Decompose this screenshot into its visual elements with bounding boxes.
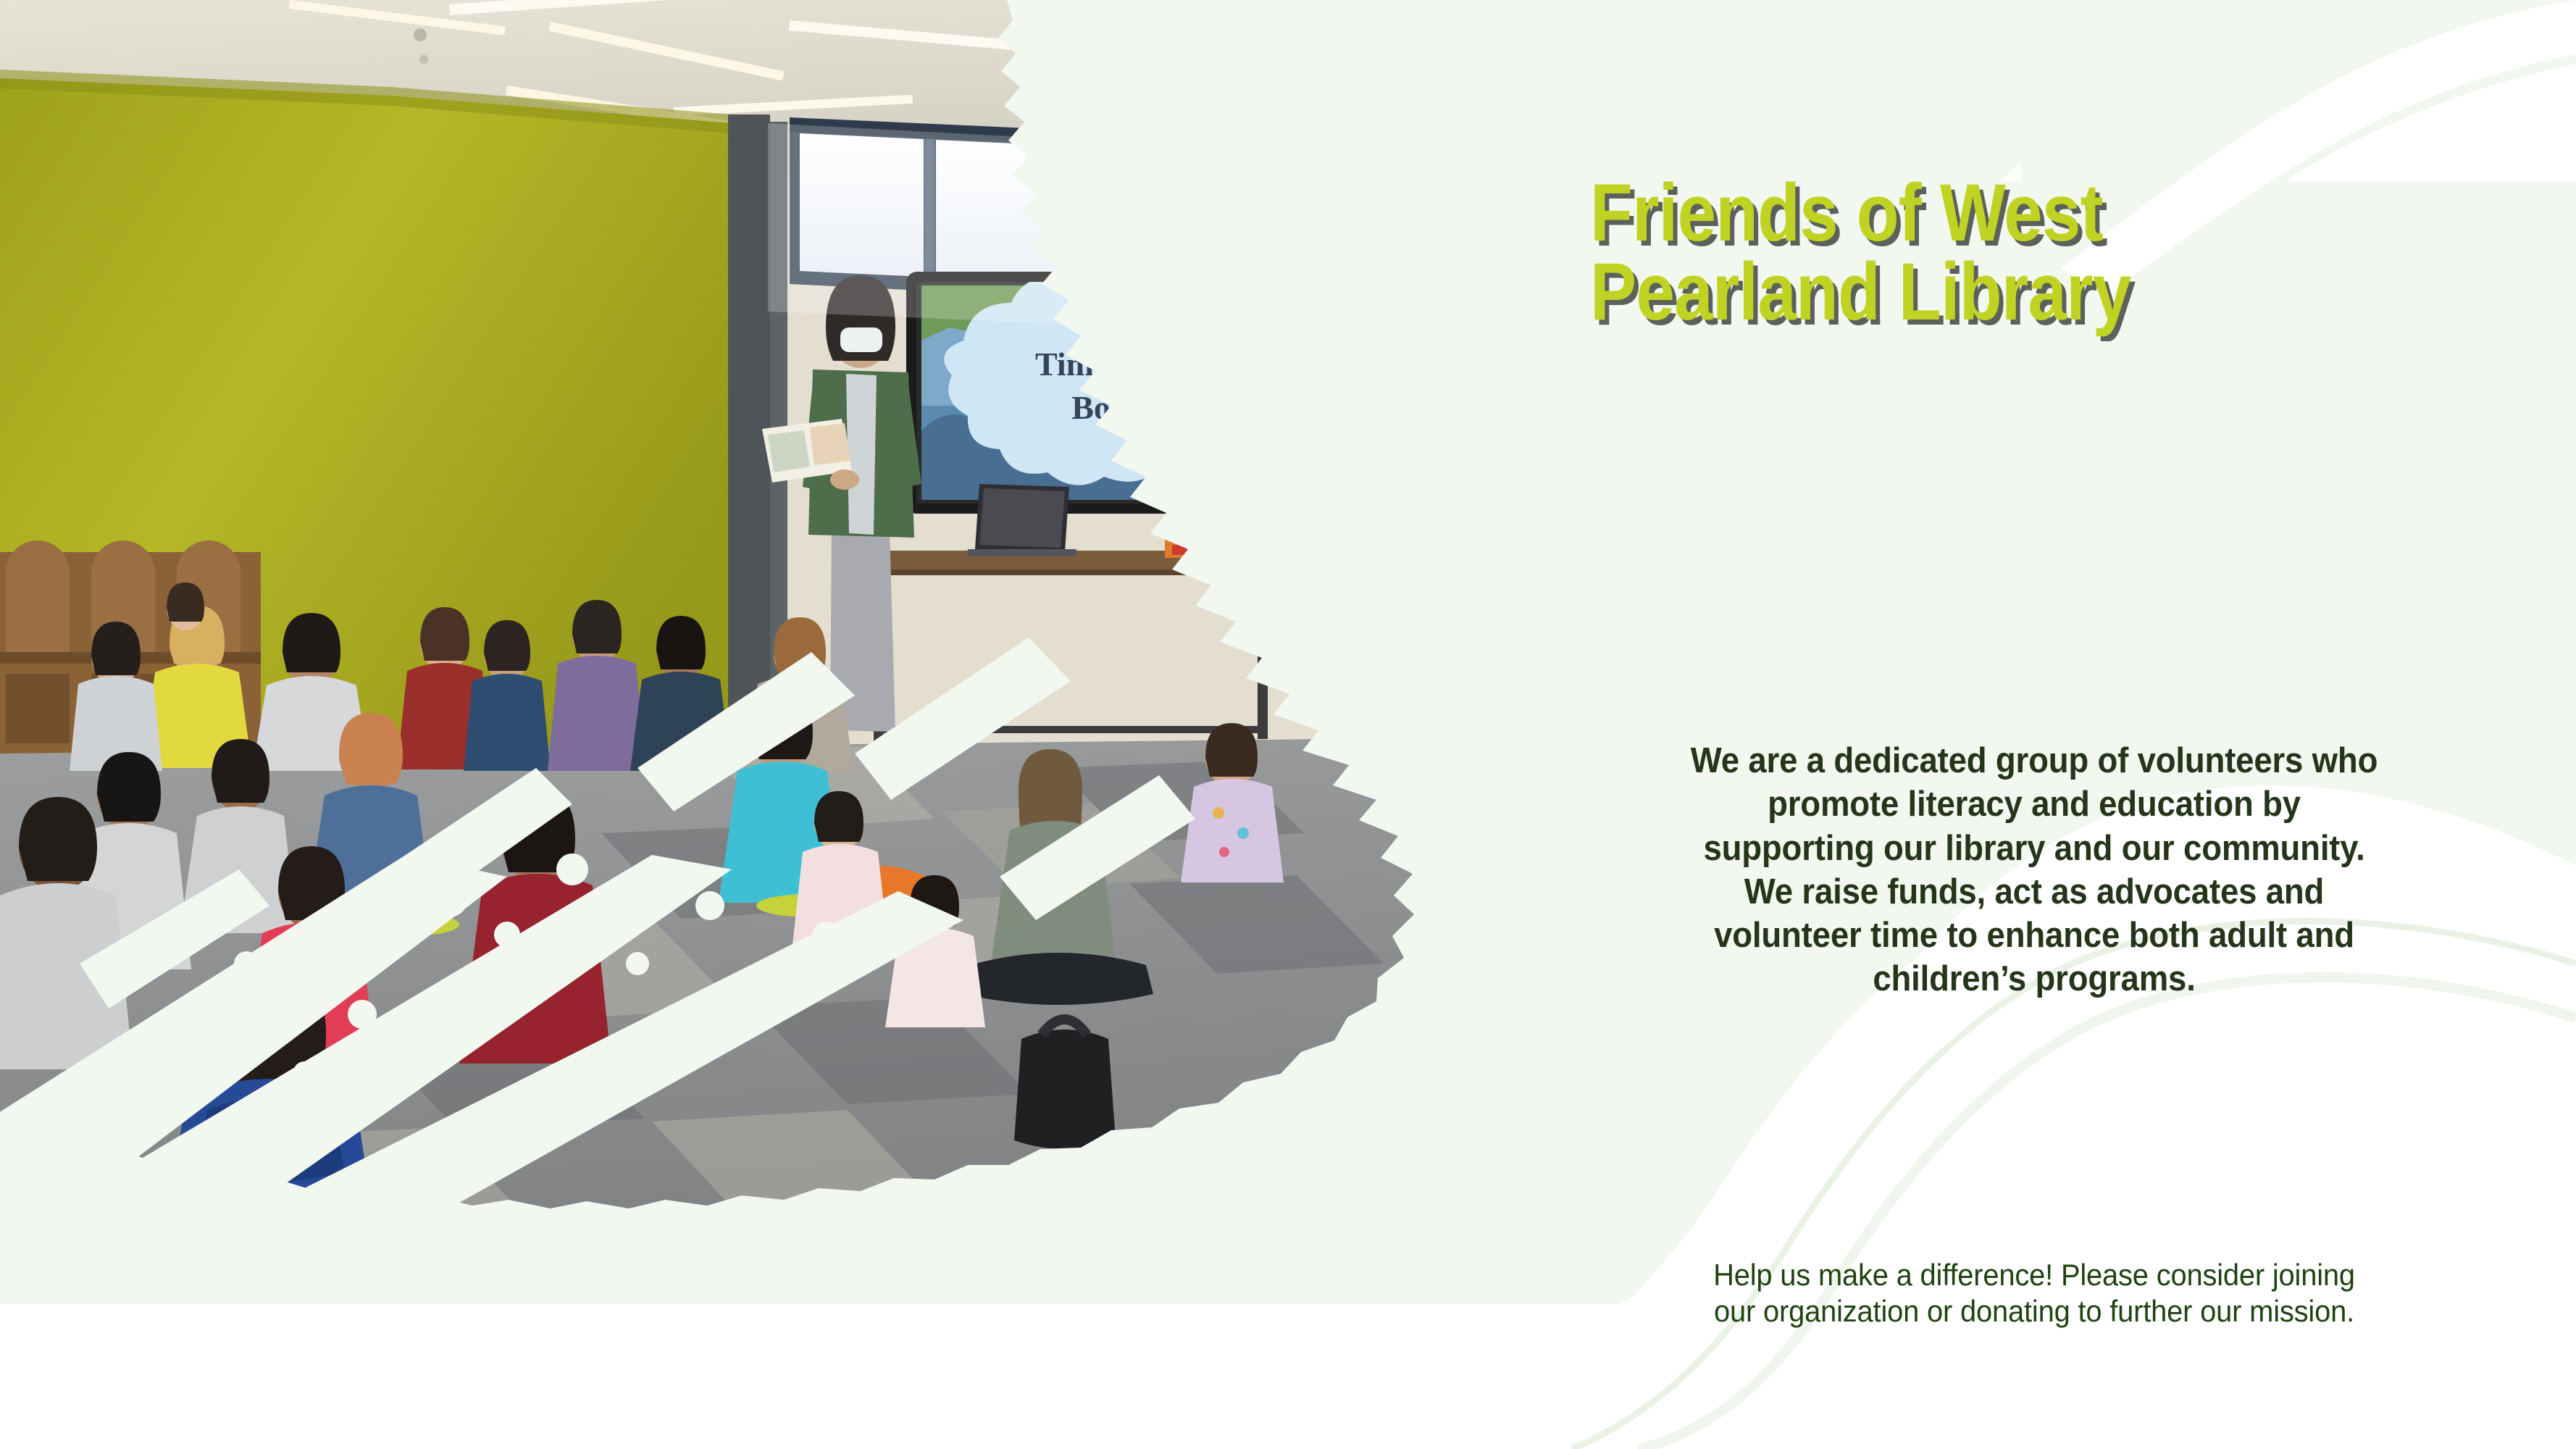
library-story-time-photo: Time For a Book! bbox=[0, 0, 1463, 1290]
cta-line: our organization or donating to further … bbox=[1519, 1293, 2548, 1329]
mission-line: volunteer time to enhance both adult and bbox=[1530, 914, 2538, 957]
photo-wall-plate bbox=[1334, 448, 1366, 487]
cta-line: Help us make a difference! Please consid… bbox=[1519, 1257, 2548, 1293]
photo-column bbox=[728, 114, 770, 770]
slide-canvas: Time For a Book! bbox=[0, 0, 2576, 1449]
call-to-action: Help us make a difference! Please consid… bbox=[1492, 1257, 2576, 1329]
title-line-1: Friends of West bbox=[1590, 174, 2338, 253]
page-title: Friends of West Pearland Library bbox=[1590, 174, 2459, 331]
photo-screen-text-line2: Book! bbox=[1071, 389, 1157, 426]
mission-line: We are a dedicated group of volunteers w… bbox=[1530, 739, 2538, 782]
mission-line: We raise funds, act as advocates and bbox=[1530, 870, 2538, 914]
photo-content: Time For a Book! bbox=[0, 0, 1463, 1290]
photo-screen-cable bbox=[1317, 507, 1323, 681]
photo-window-glare bbox=[768, 123, 1463, 341]
mission-line: supporting our library and our community… bbox=[1530, 827, 2538, 870]
mission-line: promote literacy and education by bbox=[1530, 782, 2538, 826]
photo-screen-text-line1: Time For a bbox=[1035, 346, 1193, 383]
content-column: Friends of West Pearland Library We are … bbox=[1492, 0, 2576, 1449]
photo-svg: Time For a Book! bbox=[0, 0, 1463, 1290]
mission-line: children’s programs. bbox=[1530, 957, 2538, 1001]
title-line-2: Pearland Library bbox=[1590, 253, 2338, 332]
mission-statement: We are a dedicated group of volunteers w… bbox=[1492, 739, 2576, 1001]
